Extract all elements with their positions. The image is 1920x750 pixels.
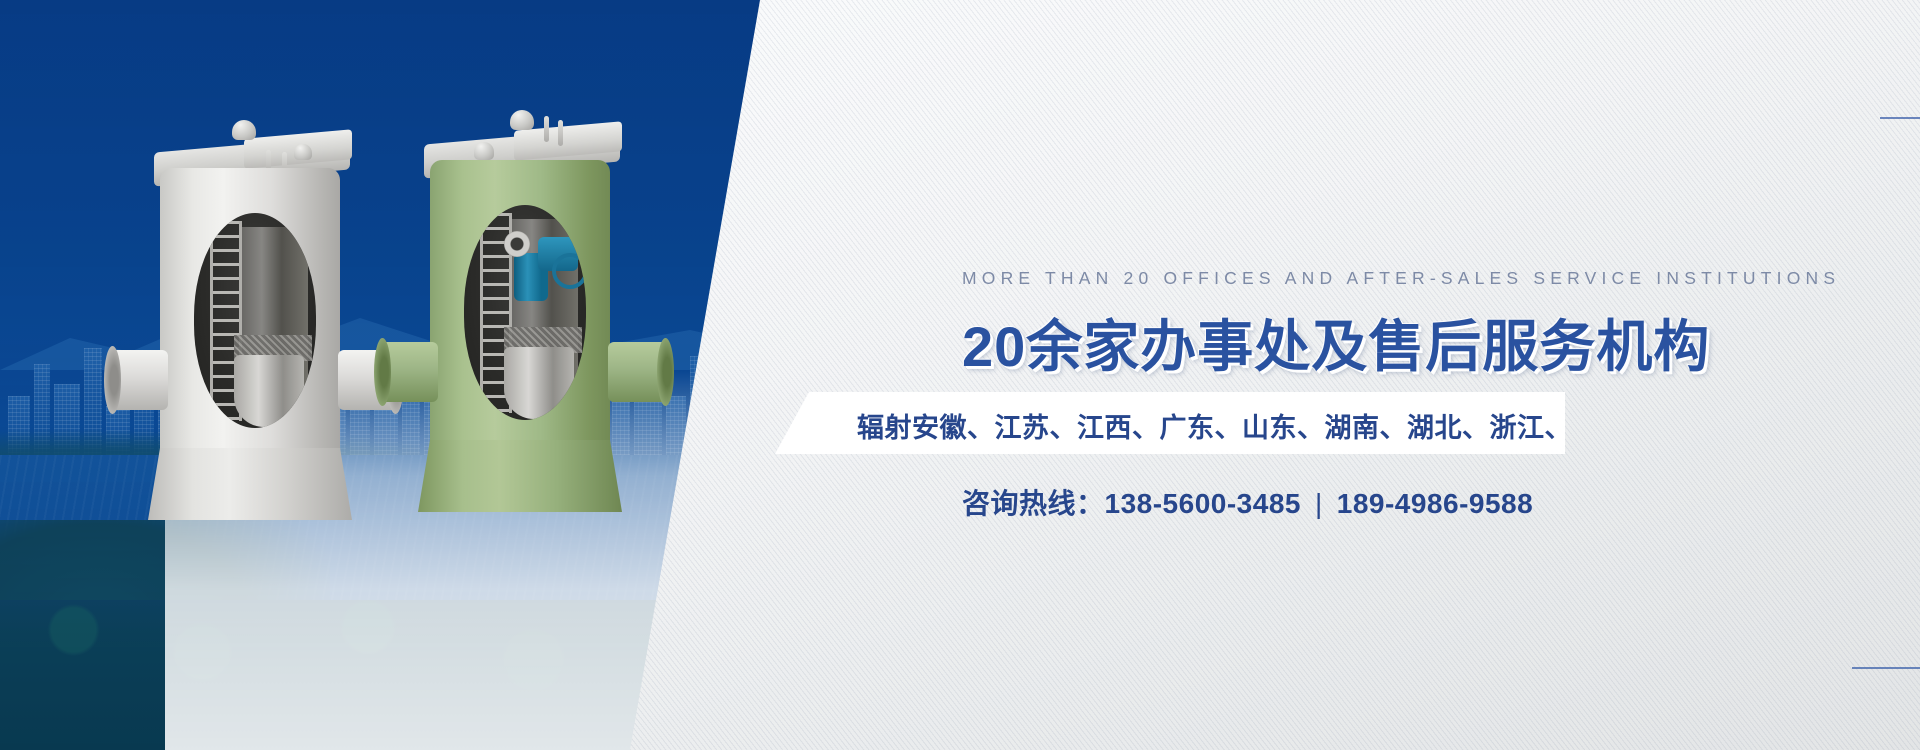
green-cutaway-window (464, 205, 586, 420)
grey-base-cone (148, 448, 352, 520)
product-green-pump-station (418, 110, 628, 500)
hotline-label: 咨询热线： (962, 488, 1105, 519)
green-inlet-pipe-cap (374, 338, 391, 406)
grey-sump-tank (234, 355, 304, 427)
hotline-separator: | (1301, 488, 1337, 519)
green-vent-pin-2 (558, 120, 563, 146)
green-vent-knob (510, 110, 534, 130)
green-vent-pin-1 (544, 116, 549, 142)
province-highlight-bar: 辐射安徽、江苏、江西、广东、山东、湖南、湖北、浙江、福建等多个省份 (775, 392, 1565, 454)
grey-inlet-pipe-cap (104, 346, 121, 414)
green-outlet-pipe-cap (657, 338, 674, 406)
product-grey-pump-station (148, 118, 358, 498)
green-sump-tank (504, 347, 574, 419)
grey-vent-knob (232, 120, 256, 140)
green-base-cone (418, 440, 622, 512)
valve-handwheel-icon (552, 253, 586, 289)
promo-banner: MORE THAN 20 OFFICES AND AFTER-SALES SER… (0, 0, 1920, 750)
hotline-secondary-number[interactable]: 189-4986-9588 (1337, 488, 1533, 519)
green-vent-knob-2 (474, 142, 494, 160)
pipe-flange (504, 231, 530, 257)
grey-cutaway-window (194, 213, 316, 428)
page-title: 20余家办事处及售后服务机构 (962, 302, 1710, 383)
hotline-row: 咨询热线：138-5600-3485|189-4986-9588 (962, 482, 1533, 522)
english-subtitle: MORE THAN 20 OFFICES AND AFTER-SALES SER… (962, 268, 1840, 289)
grey-vent-knob-2 (294, 144, 312, 160)
hotline-primary-number[interactable]: 138-5600-3485 (1105, 488, 1301, 519)
green-valve-assembly (508, 227, 580, 307)
